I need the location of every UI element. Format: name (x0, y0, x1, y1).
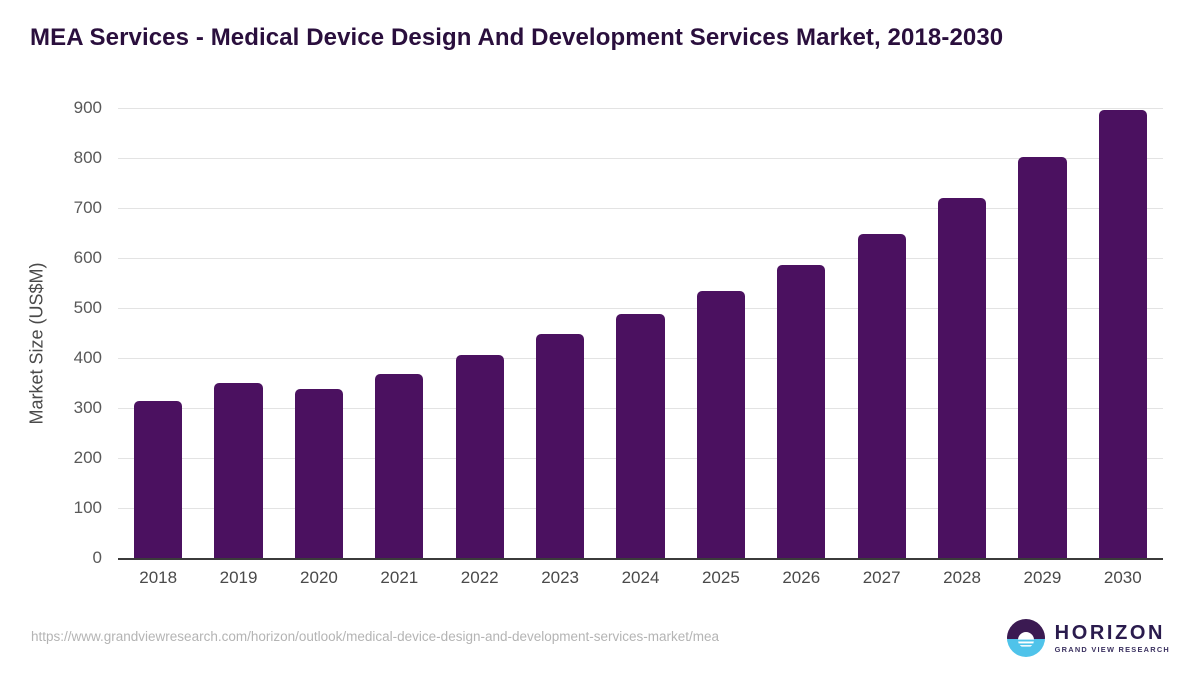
bar-rect[interactable] (456, 355, 504, 558)
logo-wordmark: HORIZON (1055, 623, 1170, 643)
bar-2030[interactable] (1099, 108, 1147, 558)
x-tick-label-2027: 2027 (863, 568, 901, 588)
x-tick-label-2030: 2030 (1104, 568, 1142, 588)
bar-2029[interactable] (1018, 108, 1066, 558)
bar-2021[interactable] (375, 108, 423, 558)
y-tick-label: 900 (46, 98, 102, 118)
y-tick-label: 600 (46, 248, 102, 268)
bar-2028[interactable] (938, 108, 986, 558)
y-axis-tick-labels: 9008007006005004003002001000 (46, 108, 102, 558)
bar-rect[interactable] (938, 198, 986, 558)
x-tick-label-2029: 2029 (1024, 568, 1062, 588)
bar-2024[interactable] (616, 108, 664, 558)
x-tick-label-2019: 2019 (220, 568, 258, 588)
bar-rect[interactable] (134, 401, 182, 558)
page-title: MEA Services - Medical Device Design And… (30, 24, 1003, 52)
bar-rect[interactable] (697, 291, 745, 558)
x-tick-label-2023: 2023 (541, 568, 579, 588)
y-tick-label: 200 (46, 448, 102, 468)
x-tick-label-2022: 2022 (461, 568, 499, 588)
bar-rect[interactable] (214, 383, 262, 559)
bar-rect[interactable] (1018, 157, 1066, 558)
y-tick-label: 800 (46, 148, 102, 168)
bar-rect[interactable] (616, 314, 664, 558)
x-tick-label-2025: 2025 (702, 568, 740, 588)
x-axis-tick-labels: 2018201920202021202220232024202520262027… (118, 568, 1163, 598)
y-tick-label: 500 (46, 298, 102, 318)
bar-2022[interactable] (456, 108, 504, 558)
horizon-logo: HORIZON GRAND VIEW RESEARCH (1006, 618, 1170, 658)
x-tick-label-2020: 2020 (300, 568, 338, 588)
x-tick-label-2021: 2021 (380, 568, 418, 588)
chart-page: MEA Services - Medical Device Design And… (0, 0, 1200, 675)
bar-rect[interactable] (295, 389, 343, 559)
x-tick-label-2028: 2028 (943, 568, 981, 588)
bar-2018[interactable] (134, 108, 182, 558)
logo-tagline: GRAND VIEW RESEARCH (1055, 646, 1170, 653)
bar-rect[interactable] (858, 234, 906, 558)
y-tick-label: 700 (46, 198, 102, 218)
bar-2025[interactable] (697, 108, 745, 558)
x-tick-label-2018: 2018 (139, 568, 177, 588)
plot-area (118, 108, 1163, 558)
y-tick-label: 0 (46, 548, 102, 568)
y-tick-label: 100 (46, 498, 102, 518)
bar-2027[interactable] (858, 108, 906, 558)
x-axis-line (118, 558, 1163, 560)
horizon-logo-icon (1006, 618, 1046, 658)
bar-rect[interactable] (1099, 110, 1147, 559)
bar-rect[interactable] (375, 374, 423, 558)
bar-rect[interactable] (777, 265, 825, 558)
bar-2026[interactable] (777, 108, 825, 558)
bar-2020[interactable] (295, 108, 343, 558)
y-tick-label: 300 (46, 398, 102, 418)
x-tick-label-2026: 2026 (782, 568, 820, 588)
bar-2019[interactable] (214, 108, 262, 558)
x-tick-label-2024: 2024 (622, 568, 660, 588)
horizon-logo-text: HORIZON GRAND VIEW RESEARCH (1055, 623, 1170, 653)
bar-2023[interactable] (536, 108, 584, 558)
y-axis-title: Market Size (US$M) (27, 144, 48, 544)
source-url[interactable]: https://www.grandviewresearch.com/horizo… (31, 629, 719, 644)
y-tick-label: 400 (46, 348, 102, 368)
bar-rect[interactable] (536, 334, 584, 559)
